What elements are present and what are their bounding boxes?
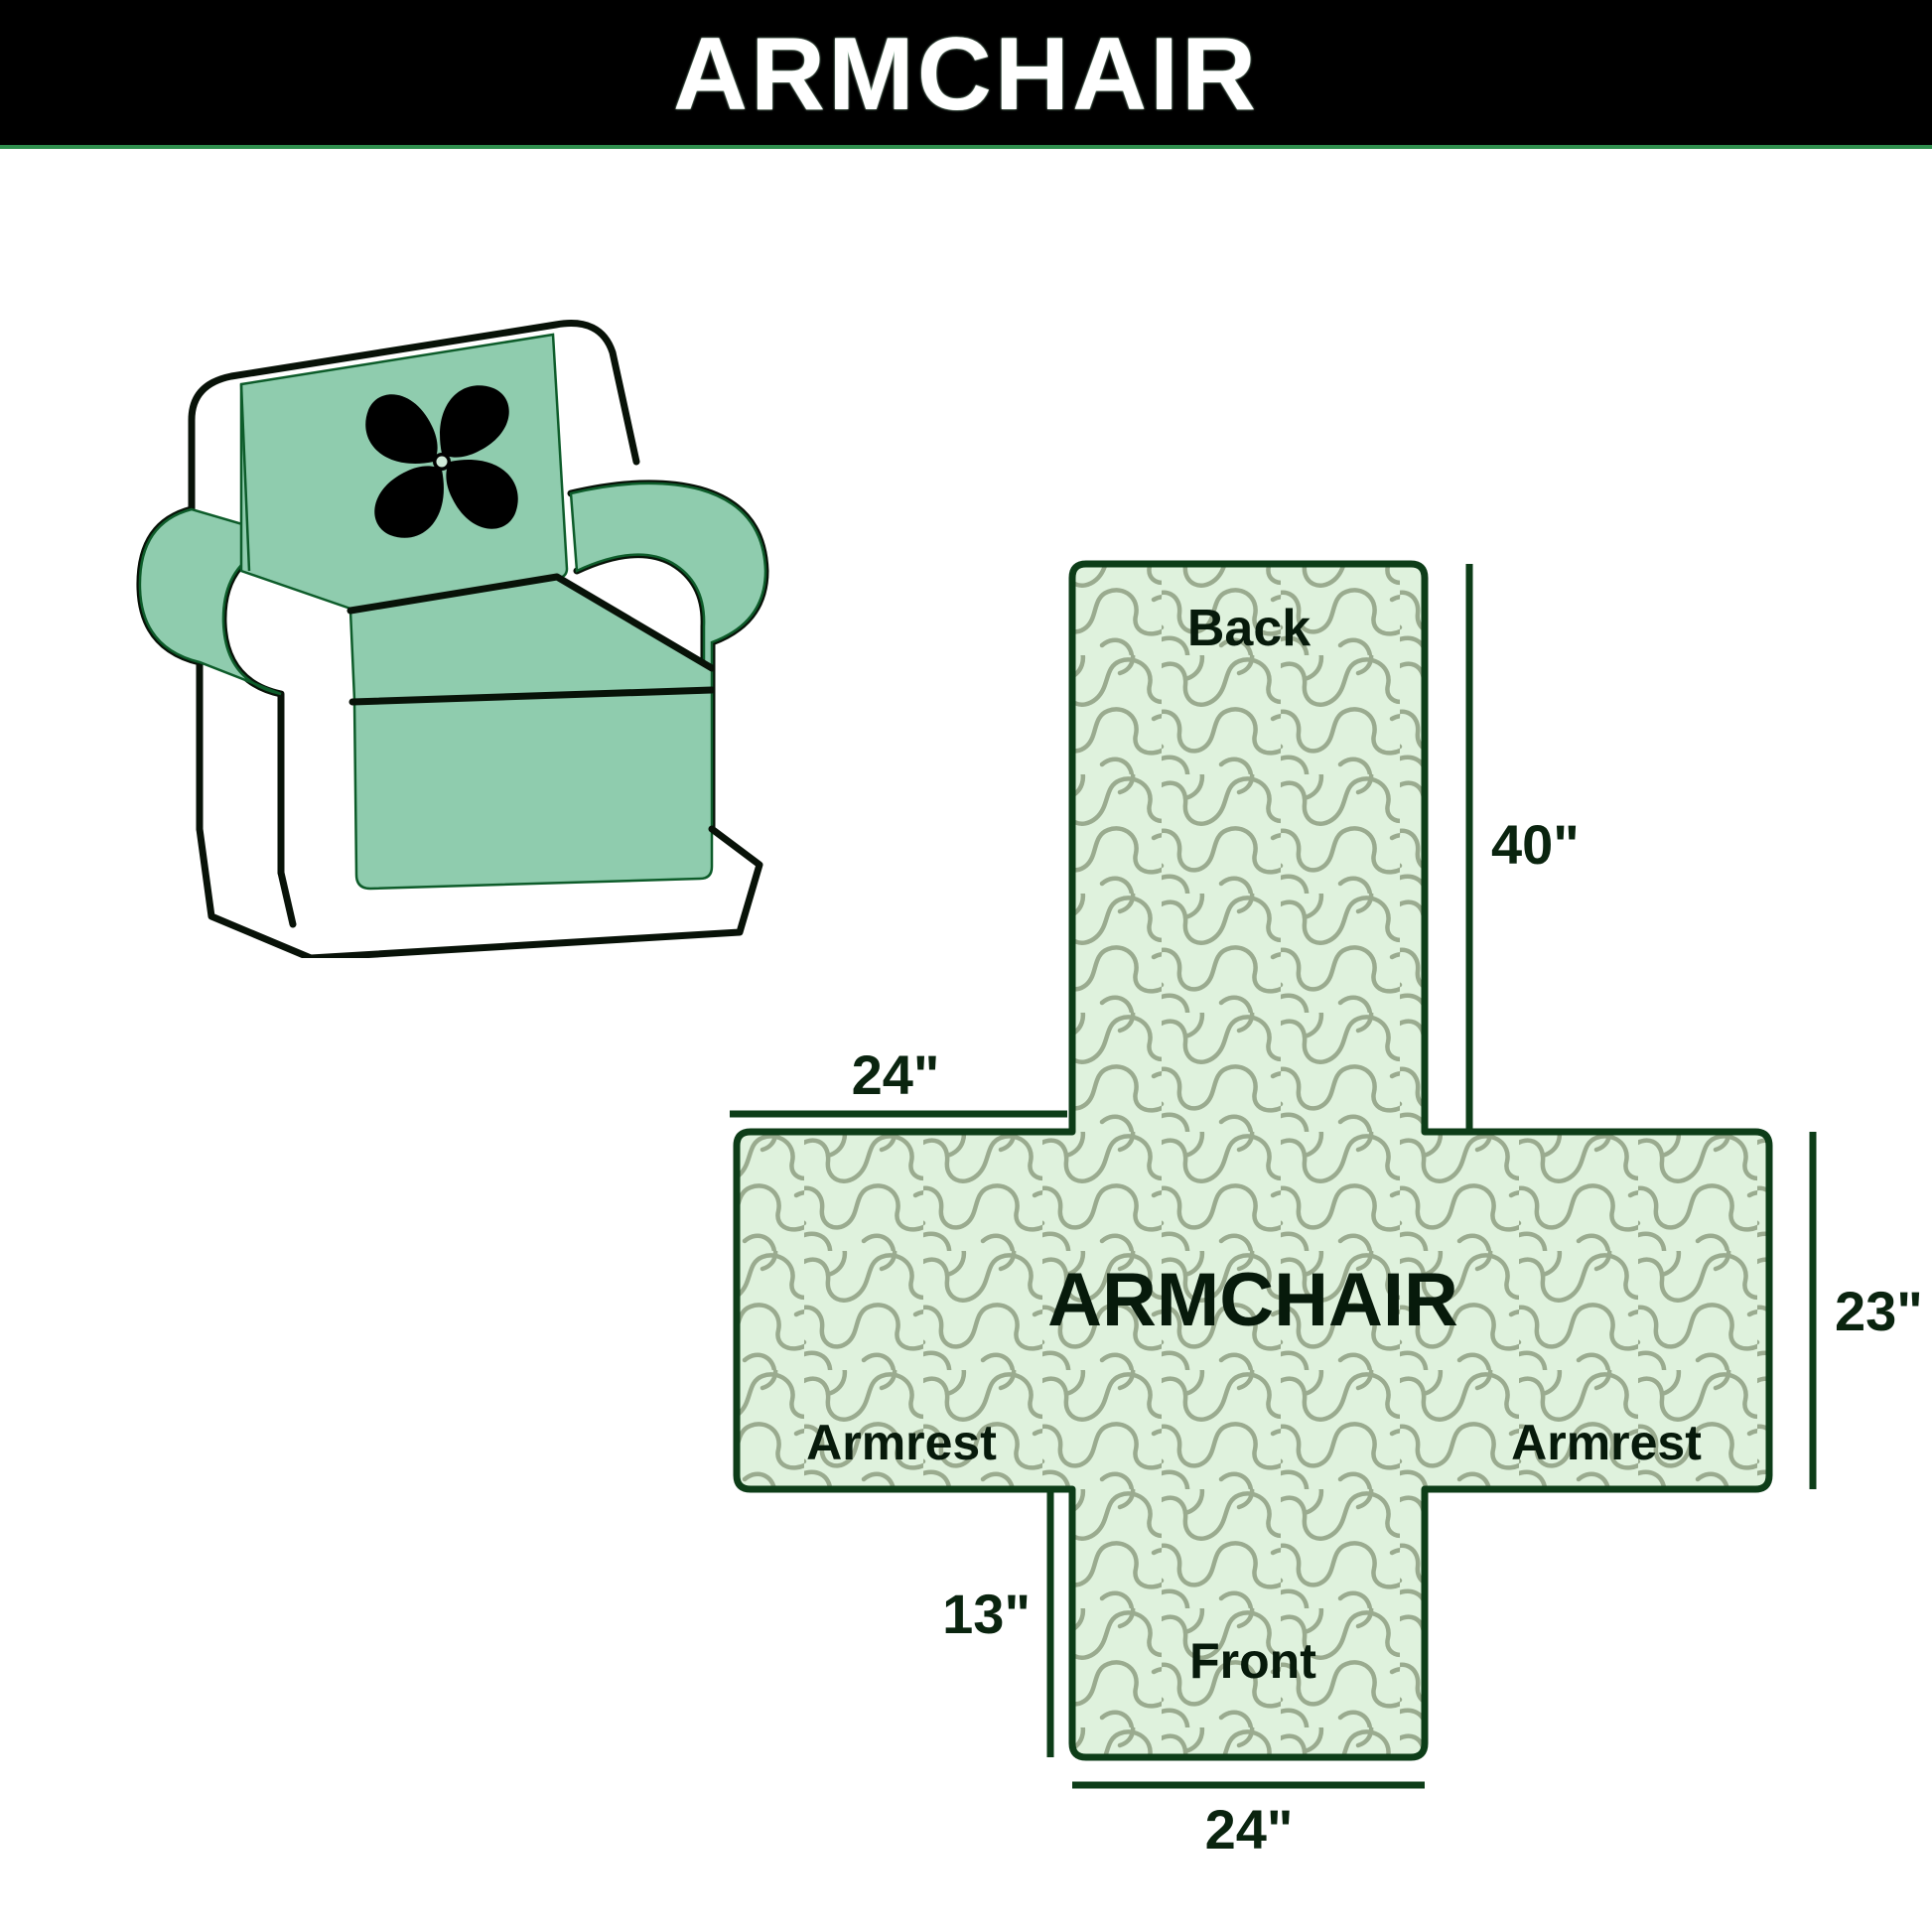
cover-front-skirt bbox=[354, 692, 712, 889]
cover-flat-diagram: .cross-outline { fill:url(#stipple); str… bbox=[685, 536, 1932, 1926]
center-label-armchair: ARMCHAIR bbox=[1047, 1258, 1458, 1342]
dimension-back-height: 40" bbox=[1491, 813, 1580, 876]
dimension-front-height: 13" bbox=[942, 1583, 1031, 1645]
panel-label-armrest-left: Armrest bbox=[806, 1415, 997, 1470]
chair-base-inner bbox=[281, 873, 293, 924]
cover-cross-shape bbox=[737, 564, 1769, 1757]
dimension-front-width: 24" bbox=[1205, 1798, 1294, 1861]
panel-label-armrest-right: Armrest bbox=[1511, 1415, 1702, 1470]
dimension-back-width: 24" bbox=[852, 1043, 940, 1106]
chair-left-arm-inner bbox=[223, 539, 293, 873]
page-title: ARMCHAIR bbox=[673, 23, 1259, 126]
main-canvas: .ol { fill:none; stroke:#081208; stroke-… bbox=[0, 149, 1932, 1932]
header-band: ARMCHAIR bbox=[0, 0, 1932, 149]
dimension-armrest-height: 23" bbox=[1835, 1280, 1923, 1342]
panel-label-back: Back bbox=[1187, 600, 1311, 657]
panel-label-front: Front bbox=[1189, 1633, 1316, 1689]
